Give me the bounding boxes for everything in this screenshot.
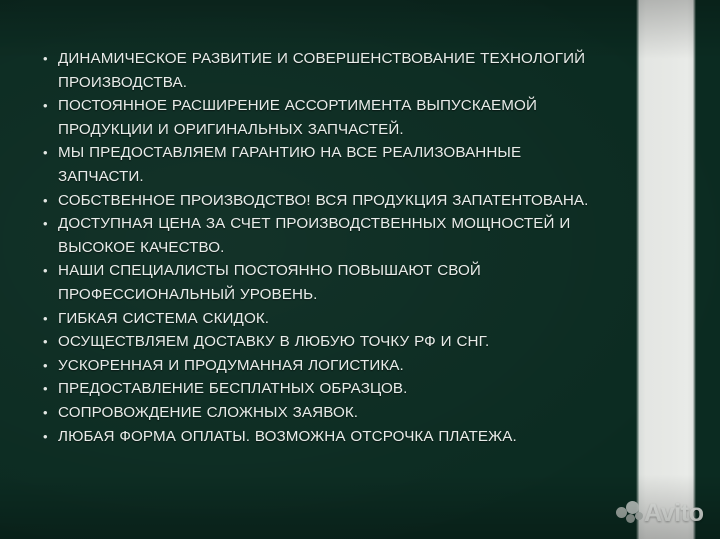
list-item: •ПОСТОЯННОЕ РАСШИРЕНИЕ АССОРТИМЕНТА ВЫПУ… <box>40 94 600 141</box>
bullet-point-icon: • <box>40 141 58 165</box>
slide-image: •ДИНАМИЧЕСКОЕ РАЗВИТИЕ И СОВЕРШЕНСТВОВАН… <box>0 0 720 539</box>
bullet-text: ПРЕДОСТАВЛЕНИЕ БЕСПЛАТНЫХ ОБРАЗЦОВ. <box>58 377 600 401</box>
bullet-text: НАШИ СПЕЦИАЛИСТЫ ПОСТОЯННО ПОВЫШАЮТ СВОЙ… <box>58 259 600 306</box>
bullet-list: •ДИНАМИЧЕСКОЕ РАЗВИТИЕ И СОВЕРШЕНСТВОВАН… <box>40 47 600 448</box>
bullet-text: ОСУЩЕСТВЛЯЕМ ДОСТАВКУ В ЛЮБУЮ ТОЧКУ РФ И… <box>58 330 600 354</box>
bullet-point-icon: • <box>40 189 58 213</box>
bullet-text: УСКОРЕННАЯ И ПРОДУМАННАЯ ЛОГИСТИКА. <box>58 354 600 378</box>
bullet-text: ПОСТОЯННОЕ РАСШИРЕНИЕ АССОРТИМЕНТА ВЫПУС… <box>58 94 600 141</box>
list-item: •ДОСТУПНАЯ ЦЕНА ЗА СЧЕТ ПРОИЗВОДСТВЕННЫХ… <box>40 212 600 259</box>
list-item: •СОПРОВОЖДЕНИЕ СЛОЖНЫХ ЗАЯВОК. <box>40 401 600 425</box>
bullet-text: ГИБКАЯ СИСТЕМА СКИДОК. <box>58 307 600 331</box>
bullet-point-icon: • <box>40 212 58 236</box>
avito-dots-logo-icon <box>616 500 643 526</box>
bullet-text: ДОСТУПНАЯ ЦЕНА ЗА СЧЕТ ПРОИЗВОДСТВЕННЫХ … <box>58 212 600 259</box>
bullet-text: ЛЮБАЯ ФОРМА ОПЛАТЫ. ВОЗМОЖНА ОТСРОЧКА ПЛ… <box>58 425 600 449</box>
bullet-text: СОПРОВОЖДЕНИЕ СЛОЖНЫХ ЗАЯВОК. <box>58 401 600 425</box>
avito-wordmark: Avito <box>644 501 704 526</box>
bullet-point-icon: • <box>40 307 58 331</box>
bullet-text: ДИНАМИЧЕСКОЕ РАЗВИТИЕ И СОВЕРШЕНСТВОВАНИ… <box>58 47 600 94</box>
bullet-point-icon: • <box>40 425 58 449</box>
list-item: •УСКОРЕННАЯ И ПРОДУМАННАЯ ЛОГИСТИКА. <box>40 354 600 378</box>
right-light-strip <box>638 0 694 539</box>
bullet-point-icon: • <box>40 354 58 378</box>
bullet-point-icon: • <box>40 330 58 354</box>
right-strip-right-edge <box>693 0 696 539</box>
right-strip-left-edge <box>636 0 639 539</box>
avito-watermark: Avito <box>616 498 714 528</box>
list-item: •ГИБКАЯ СИСТЕМА СКИДОК. <box>40 307 600 331</box>
list-item: •ЛЮБАЯ ФОРМА ОПЛАТЫ. ВОЗМОЖНА ОТСРОЧКА П… <box>40 425 600 449</box>
bullet-point-icon: • <box>40 377 58 401</box>
list-item: •НАШИ СПЕЦИАЛИСТЫ ПОСТОЯННО ПОВЫШАЮТ СВО… <box>40 259 600 306</box>
list-item: •ПРЕДОСТАВЛЕНИЕ БЕСПЛАТНЫХ ОБРАЗЦОВ. <box>40 377 600 401</box>
bullet-text: СОБСТВЕННОЕ ПРОИЗВОДСТВО! ВСЯ ПРОДУКЦИЯ … <box>58 189 600 213</box>
list-item: •ОСУЩЕСТВЛЯЕМ ДОСТАВКУ В ЛЮБУЮ ТОЧКУ РФ … <box>40 330 600 354</box>
bullet-point-icon: • <box>40 94 58 118</box>
bullet-point-icon: • <box>40 47 58 71</box>
list-item: •МЫ ПРЕДОСТАВЛЯЕМ ГАРАНТИЮ НА ВСЕ РЕАЛИЗ… <box>40 141 600 188</box>
bullet-point-icon: • <box>40 401 58 425</box>
bullet-text: МЫ ПРЕДОСТАВЛЯЕМ ГАРАНТИЮ НА ВСЕ РЕАЛИЗО… <box>58 141 600 188</box>
list-item: •СОБСТВЕННОЕ ПРОИЗВОДСТВО! ВСЯ ПРОДУКЦИЯ… <box>40 189 600 213</box>
list-item: •ДИНАМИЧЕСКОЕ РАЗВИТИЕ И СОВЕРШЕНСТВОВАН… <box>40 47 600 94</box>
bullet-point-icon: • <box>40 259 58 283</box>
